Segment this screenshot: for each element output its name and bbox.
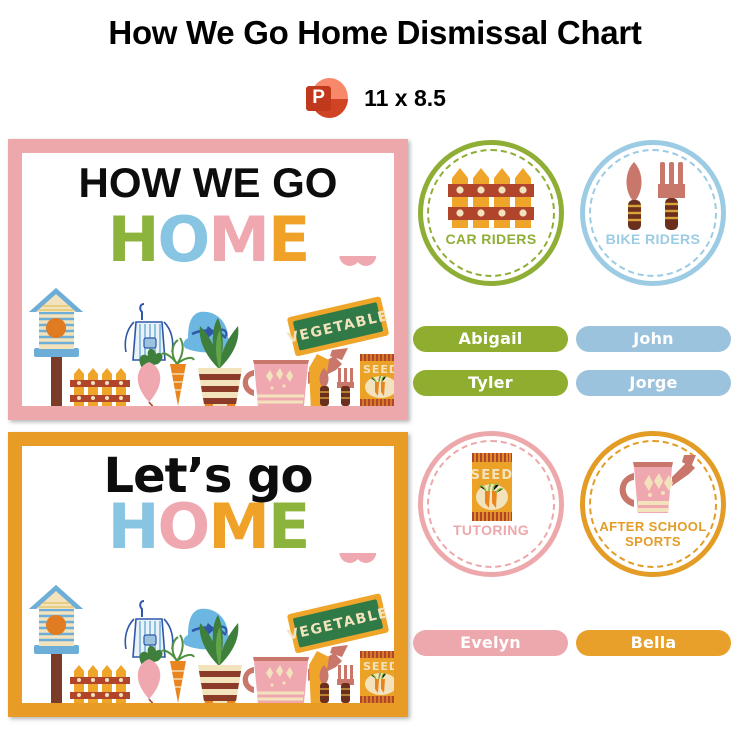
home-letter-e: E [268, 496, 308, 558]
home-letter-o: O [158, 496, 209, 558]
seed-packet-label: SEED [471, 468, 514, 483]
watering-can-icon [243, 348, 348, 406]
fence-icon [70, 665, 130, 703]
flower-cluster [334, 256, 394, 266]
beet-icon [138, 349, 163, 406]
file-meta-row: P 11 x 8.5 [0, 76, 750, 120]
badge-label: CAR RIDERS [426, 232, 556, 247]
garden-tools-small-icon [320, 368, 355, 406]
garden-illustration: VEGETABLE [22, 553, 394, 703]
flower-pink-large [334, 553, 382, 563]
seed-packet-icon: SEED [360, 354, 394, 406]
garden-tools-icon [610, 160, 696, 232]
poster-canvas: Let’s go HOME [22, 446, 394, 703]
seed-packet-label: SEED [363, 660, 394, 673]
name-pill[interactable]: Evelyn [413, 630, 568, 656]
seed-packet-icon: SEED [360, 651, 394, 703]
screenshot-root: How We Go Home Dismissal Chart P 11 x 8.… [0, 0, 750, 750]
flower-pink-large [334, 256, 382, 266]
name-pill[interactable]: Abigail [413, 326, 568, 352]
powerpoint-icon: P [304, 76, 348, 120]
category-badge-bike-riders[interactable]: BIKE RIDERS [580, 140, 726, 286]
beet-icon [138, 646, 163, 703]
poster-preview-how-we-go-home[interactable]: HOW WE GO HOME [8, 139, 408, 420]
poster-headline: HOW WE GO [22, 159, 394, 207]
flower-cluster [334, 553, 394, 563]
badge-label: TUTORING [426, 523, 556, 538]
category-badge-tutoring[interactable]: SEED TUTORING [418, 431, 564, 577]
powerpoint-icon-letter: P [306, 86, 331, 111]
fence-icon [448, 160, 534, 232]
name-pill[interactable]: John [576, 326, 731, 352]
name-pill[interactable]: Bella [576, 630, 731, 656]
category-badge-car-riders[interactable]: CAR RIDERS [418, 140, 564, 286]
poster-word-home: HOME [22, 496, 394, 558]
name-pill[interactable]: Tyler [413, 370, 568, 396]
garden-illustration: VEGETABLE [22, 256, 394, 406]
watering-can-icon [243, 645, 348, 703]
seed-packet-icon: SEED [448, 451, 534, 523]
seed-packet-label: SEED [363, 363, 394, 376]
watering-can-icon [610, 451, 696, 523]
home-letter-m: M [208, 496, 268, 558]
potted-plant-icon [198, 615, 242, 703]
potted-plant-icon [198, 318, 242, 406]
badge-label: AFTER SCHOOL SPORTS [588, 519, 718, 549]
poster-preview-lets-go-home[interactable]: Let’s go HOME [8, 432, 408, 717]
document-dimensions: 11 x 8.5 [364, 85, 446, 112]
home-letter-h: H [108, 496, 158, 558]
fence-icon [70, 368, 130, 406]
name-pill[interactable]: Jorge [576, 370, 731, 396]
badge-label: BIKE RIDERS [588, 232, 718, 247]
page-title: How We Go Home Dismissal Chart [0, 14, 750, 52]
garden-tools-small-icon [320, 665, 355, 703]
category-badge-after-school-sports[interactable]: AFTER SCHOOL SPORTS [580, 431, 726, 577]
poster-canvas: HOW WE GO HOME [22, 153, 394, 406]
